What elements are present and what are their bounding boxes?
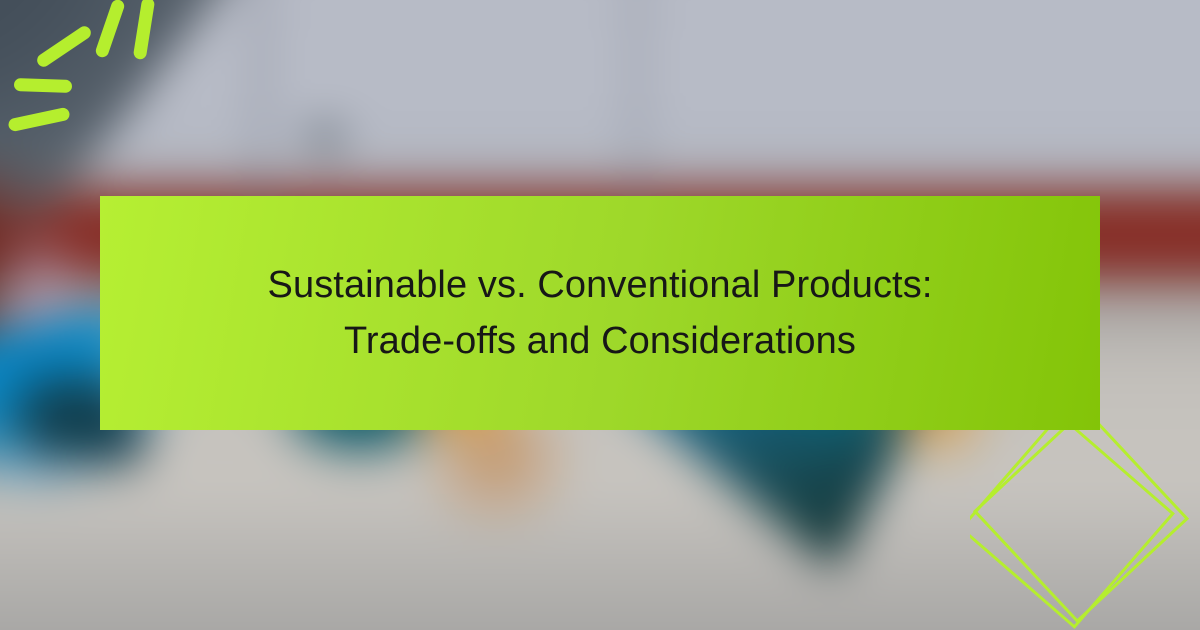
background-dark-blob — [295, 118, 355, 158]
page-title: Sustainable vs. Conventional Products: T… — [170, 257, 1030, 369]
banner-card: Sustainable vs. Conventional Products: T… — [0, 0, 1200, 630]
title-banner: Sustainable vs. Conventional Products: T… — [100, 196, 1100, 430]
